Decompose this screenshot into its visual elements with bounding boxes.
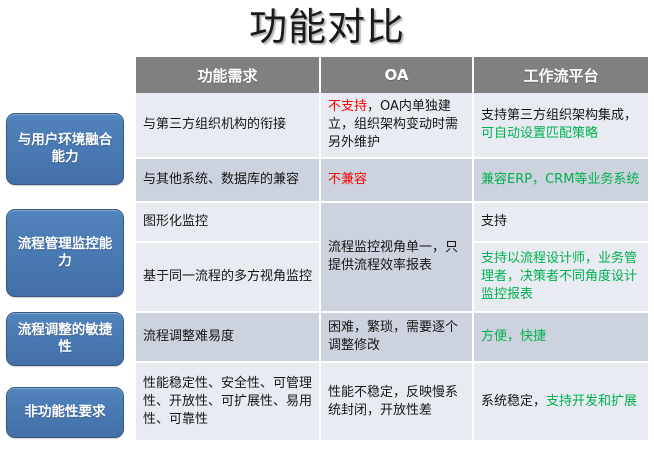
table-row: 流程调整难易度困难，繁琐，需要逐个调整修改方便，快捷 [136,312,648,362]
cell-oa: 不兼容 [320,158,473,202]
cell-workflow: 支持以流程设计师，业务管理者，决策者不同角度设计监控报表 [473,242,648,312]
cell-text-segment: 支持开发和扩展 [546,394,637,409]
cell-text-segment: 流程监控视角单一，只提供流程效率报表 [328,240,458,273]
table-body: 与第三方组织机构的衔接不支持，OA内单独建立，组织架构变动时需另外维护支持第三方… [136,93,648,440]
cell-text-segment: 支持 [481,214,507,229]
cell-text-segment: 兼容ERP，CRM等业务系统 [481,172,639,187]
column-header-workflow: 工作流平台 [473,57,648,93]
table-row: 性能稳定性、安全性、可管理性、开放性、可扩展性、易用性、可靠性性能不稳定，反映慢… [136,362,648,440]
cell-text-segment: 不兼容 [328,172,367,187]
table-header-row: 功能需求 OA 工作流平台 [136,57,648,93]
cell-workflow: 支持第三方组织架构集成，可自动设置匹配策略 [473,93,648,158]
table-row: 图形化监控流程监控视角单一，只提供流程效率报表支持 [136,202,648,242]
cell-workflow: 方便，快捷 [473,312,648,362]
cell-text-segment: 支持以流程设计师，业务管理者，决策者不同角度设计监控报表 [481,251,637,302]
sidebar-item-user-environment-fit[interactable]: 与用户环境融合能力 [6,113,124,185]
cell-requirement: 图形化监控 [136,202,320,242]
cell-requirement: 性能稳定性、安全性、可管理性、开放性、可扩展性、易用性、可靠性 [136,362,320,440]
cell-text-segment: 系统稳定， [481,394,546,409]
cell-requirement: 与第三方组织机构的衔接 [136,93,320,158]
comparison-table: 功能需求 OA 工作流平台 与第三方组织机构的衔接不支持，OA内单独建立，组织架… [136,57,648,440]
sidebar-item-process-agility[interactable]: 流程调整的敏捷性 [6,312,124,366]
cell-text-segment: 支持第三方组织架构集成， [481,108,637,123]
sidebar-item-nonfunctional-requirements[interactable]: 非功能性要求 [6,387,124,438]
table-row: 与第三方组织机构的衔接不支持，OA内单独建立，组织架构变动时需另外维护支持第三方… [136,93,648,158]
cell-text-segment: 方便，快捷 [481,329,546,344]
sidebar-item-label: 与用户环境融合能力 [13,132,117,166]
sidebar-item-label: 流程管理监控能力 [13,236,117,270]
cell-oa: 流程监控视角单一，只提供流程效率报表 [320,202,473,312]
cell-workflow: 支持 [473,202,648,242]
column-header-oa: OA [320,57,473,93]
cell-text-segment: 不支持 [328,99,367,114]
cell-text-segment: 性能不稳定，反映慢系统封闭，开放性差 [328,385,458,418]
column-header-requirement: 功能需求 [136,57,320,93]
cell-oa: 困难，繁琐，需要逐个调整修改 [320,312,473,362]
cell-workflow: 系统稳定，支持开发和扩展 [473,362,648,440]
table-row: 与其他系统、数据库的兼容不兼容兼容ERP，CRM等业务系统 [136,158,648,202]
sidebar-item-label: 非功能性要求 [25,404,106,421]
cell-requirement: 流程调整难易度 [136,312,320,362]
sidebar-item-label: 流程调整的敏捷性 [13,322,117,356]
sidebar-item-process-management-monitoring[interactable]: 流程管理监控能力 [6,209,124,297]
cell-requirement: 基于同一流程的多方视角监控 [136,242,320,312]
cell-requirement: 与其他系统、数据库的兼容 [136,158,320,202]
cell-oa: 性能不稳定，反映慢系统封闭，开放性差 [320,362,473,440]
cell-text-segment: 可自动设置匹配策略 [481,126,598,141]
cell-workflow: 兼容ERP，CRM等业务系统 [473,158,648,202]
cell-text-segment: 困难，繁琐，需要逐个调整修改 [328,320,458,353]
cell-oa: 不支持，OA内单独建立，组织架构变动时需另外维护 [320,93,473,158]
category-sidebar: 与用户环境融合能力 流程管理监控能力 流程调整的敏捷性 非功能性要求 [0,0,132,461]
